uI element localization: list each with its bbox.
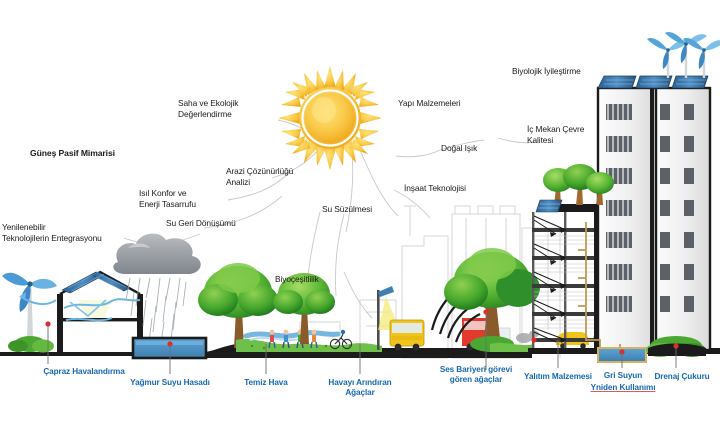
- label-su-suzulmesi: Su Süzülmesi: [322, 204, 398, 215]
- daylight-arrows: [534, 216, 566, 342]
- shrub-group-left: [8, 336, 54, 353]
- callout-havayi-arindiran-agaclar: Havayı Arındıran Ağaçlar: [317, 378, 403, 398]
- sun-icon: [278, 66, 382, 170]
- label-biyolojik-iyilestirme: Biyolojik İyileştirme: [512, 66, 620, 77]
- label-gunes-pasif-mimarisi: Güneş Pasif Mimarisi: [30, 148, 145, 159]
- solar-panel-green-roof: [536, 200, 562, 212]
- right-panel-group: [528, 32, 720, 362]
- callout-yniden-kullanimi: Yniden Kullanımı: [580, 383, 666, 393]
- label-biyocesitlilik: Biyoçeşitlilik: [275, 274, 345, 285]
- infographic-canvas: Güneş Pasif Mimarisi Saha ve Ekolojik De…: [0, 0, 720, 427]
- stream: [246, 333, 338, 340]
- rainwater-tank: [133, 338, 206, 358]
- callout-drenaj-cukuru: Drenaj Çukuru: [645, 372, 719, 382]
- ventilation-arrows: [20, 296, 140, 320]
- callout-yalitim-malzemesi: Yalıtım Malzemesi: [512, 372, 604, 382]
- label-dogal-isik: Doğal Işık: [441, 143, 501, 154]
- wind-turbine-icon: [2, 273, 57, 340]
- label-yapi-malzemeleri: Yapı Malzemeleri: [398, 98, 492, 109]
- label-arazi-cozunurlugu-analizi: Arazi Çözünürlüğü Analizi: [226, 166, 322, 187]
- rain-streaks: [126, 278, 186, 344]
- callout-capraz-havalandirma: Çapraz Havalandırma: [28, 367, 140, 377]
- wind-turbines-tower: [647, 32, 720, 78]
- callout-yagmur-suyu-hasadi: Yağmur Suyu Hasadı: [118, 378, 222, 388]
- label-isil-konfor-ve-enerji-tasarrufu: Isıl Konfor ve Enerji Tasarrufu: [139, 188, 231, 209]
- solar-panels-tower: [598, 76, 708, 88]
- label-saha-ve-ekolojik-degerlendirme: Saha ve Ekolojik Değerlendirme: [178, 98, 278, 119]
- label-yenilenebilir-teknolojilerin-entegrasyonu: Yenilenebilir Teknolojilerin Entegrasyon…: [2, 222, 128, 243]
- label-ic-mekan-cevre-kalitesi: İç Mekan Çevre Kalitesi: [527, 124, 617, 145]
- label-insaat-teknolojisi: İnşaat Teknolojisi: [404, 183, 498, 194]
- callout-temiz-hava: Temiz Hava: [234, 378, 298, 388]
- label-su-geri-donusumu: Su Geri Dönüşümü: [166, 218, 268, 229]
- bus-icon: [390, 320, 424, 350]
